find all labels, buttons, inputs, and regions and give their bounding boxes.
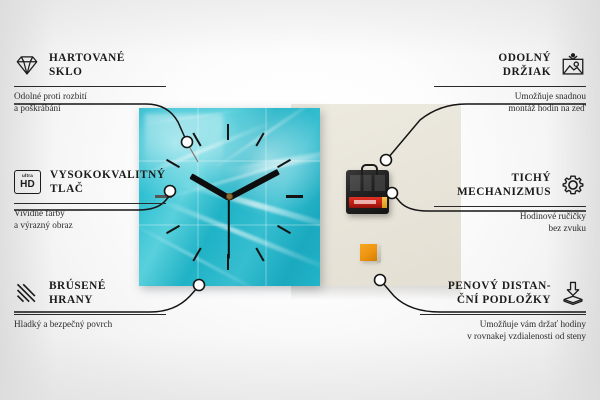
movement-label xyxy=(350,175,385,191)
feature-title: BRÚSENÉ HRANY xyxy=(49,279,106,308)
feature-title: PENOVÝ DISTAN- ČNÍ PODLOŽKY xyxy=(448,279,551,308)
feature-header: HARTOVANÉ SKLO xyxy=(14,48,166,82)
feature-title: ODOLNÝ DRŽIAK xyxy=(498,51,551,80)
divider xyxy=(434,206,586,207)
gear-icon xyxy=(560,172,586,198)
product-infographic: HARTOVANÉ SKLO Odolné proti rozbití a po… xyxy=(0,0,600,400)
hd-text: HD xyxy=(20,180,35,190)
product-image xyxy=(139,104,461,292)
subtitle-line: Odolné proti rozbití xyxy=(14,91,166,103)
subtitle-line: Umožňuje snadnou xyxy=(434,91,586,103)
wall-mount-picture-icon xyxy=(560,52,586,78)
feature-header: ODOLNÝ DRŽIAK xyxy=(434,48,586,82)
subtitle-line: a výrazný obraz xyxy=(14,220,166,232)
clock-tick-3 xyxy=(286,195,303,198)
feature-tempered-glass[interactable]: HARTOVANÉ SKLO Odolné proti rozbití a po… xyxy=(14,48,166,114)
clock-tick-4 xyxy=(277,225,291,234)
divider xyxy=(420,314,586,315)
movement-hanger-icon xyxy=(361,164,378,175)
feature-subtitle: Umožňuje vám držať hodiny v rovnakej vzd… xyxy=(420,319,586,342)
feature-header: TICHÝ MECHANIZMUS xyxy=(434,168,586,202)
subtitle-line: Umožňuje vám držať hodiny xyxy=(420,319,586,331)
feature-high-quality-print[interactable]: ultra HD VYSOKOKVALITNÝ TLAČ Vivídne far… xyxy=(14,165,166,231)
spacer-side-face xyxy=(377,245,381,263)
feature-foam-spacers[interactable]: PENOVÝ DISTAN- ČNÍ PODLOŽKY Umožňuje vám… xyxy=(420,276,586,342)
divider xyxy=(14,203,166,204)
battery-terminal xyxy=(382,197,387,208)
feature-header: BRÚSENÉ HRANY xyxy=(14,276,166,310)
glass-highlight xyxy=(145,114,223,166)
feature-subtitle: Hladký a bezpečný povrch xyxy=(14,319,166,331)
feature-durable-hanger[interactable]: ODOLNÝ DRŽIAK Umožňuje snadnou montáž ho… xyxy=(434,48,586,114)
glass-reflection-line xyxy=(197,108,199,286)
clock-center-hub xyxy=(226,193,233,200)
subtitle-line: Vivídne farby xyxy=(14,208,166,220)
feature-subtitle: Vivídne farby a výrazný obraz xyxy=(14,208,166,231)
press-down-pad-icon xyxy=(560,280,586,306)
clock-tick-5 xyxy=(255,248,264,262)
diamond-icon xyxy=(14,52,40,78)
glass-clock-face xyxy=(139,108,320,286)
feature-title: TICHÝ MECHANIZMUS xyxy=(457,171,551,200)
divider xyxy=(14,86,166,87)
ultra-hd-icon: ultra HD xyxy=(14,170,41,194)
subtitle-line: bez zvuku xyxy=(434,223,586,235)
quartz-clock-movement xyxy=(346,170,389,214)
clock-tick-8 xyxy=(166,225,180,234)
feature-subtitle: Umožňuje snadnou montáž hodin na zeď xyxy=(434,91,586,114)
feature-silent-mechanism[interactable]: TICHÝ MECHANIZMUS Hodinové ručičky bez z… xyxy=(434,168,586,234)
subtitle-line: montáž hodin na zeď xyxy=(434,103,586,115)
divider xyxy=(14,314,166,315)
clock-tick-12 xyxy=(227,124,229,140)
feature-title: VYSOKOKVALITNÝ TLAČ xyxy=(50,168,165,197)
clock-minute-hand xyxy=(228,169,280,201)
subtitle-line: Hodinové ručičky xyxy=(434,211,586,223)
glass-reflection-line xyxy=(265,108,267,286)
polished-edges-icon xyxy=(14,280,40,306)
aa-battery xyxy=(349,197,386,208)
feature-header: PENOVÝ DISTAN- ČNÍ PODLOŽKY xyxy=(420,276,586,310)
feather-streak xyxy=(155,197,320,273)
clock-second-hand xyxy=(228,197,230,259)
subtitle-line: Hladký a bezpečný povrch xyxy=(14,319,166,331)
feature-title: HARTOVANÉ SKLO xyxy=(49,51,125,80)
feature-header: ultra HD VYSOKOKVALITNÝ TLAČ xyxy=(14,165,166,199)
divider xyxy=(434,86,586,87)
clock-tick-1 xyxy=(255,133,264,147)
foam-spacer-pad xyxy=(360,244,377,261)
battery-label xyxy=(354,200,376,204)
clock-hour-hand xyxy=(189,173,230,200)
feature-subtitle: Odolné proti rozbití a poškrábání xyxy=(14,91,166,114)
feature-polished-edges[interactable]: BRÚSENÉ HRANY Hladký a bezpečný povrch xyxy=(14,276,166,331)
subtitle-line: a poškrábání xyxy=(14,103,166,115)
subtitle-line: v rovnakej vzdialenosti od steny xyxy=(420,331,586,343)
feature-subtitle: Hodinové ručičky bez zvuku xyxy=(434,211,586,234)
